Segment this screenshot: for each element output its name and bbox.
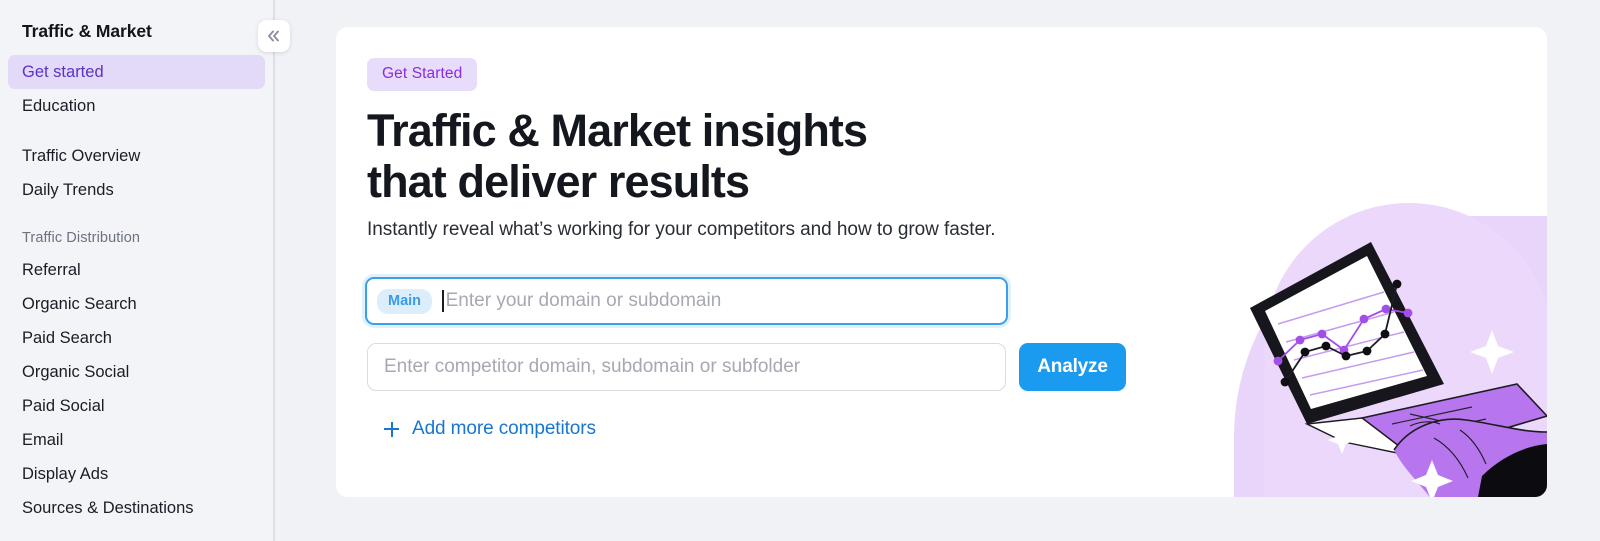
sidebar: Traffic & Market Get startedEducationTra… (0, 0, 273, 541)
sidebar-item-organic-search[interactable]: Organic Search (0, 287, 273, 321)
sidebar-item-label: Traffic Overview (22, 147, 140, 166)
page-subtitle: Instantly reveal what’s working for your… (367, 219, 995, 241)
analyze-button[interactable]: Analyze (1019, 343, 1126, 391)
main-tag-badge: Main (377, 289, 432, 314)
add-more-competitors-label: Add more competitors (412, 418, 596, 440)
sidebar-item-traffic-overview[interactable]: Traffic Overview (0, 139, 273, 173)
sidebar-nav-list: Get startedEducationTraffic OverviewDail… (0, 55, 273, 525)
sidebar-gap (0, 123, 273, 139)
sidebar-item-label: Referral (22, 261, 81, 280)
sidebar-item-label: Organic Social (22, 363, 129, 382)
page-title: Traffic & Market insights that deliver r… (367, 105, 867, 207)
get-started-badge: Get Started (367, 58, 477, 91)
get-started-card: Get Started Traffic & Market insights th… (336, 27, 1547, 497)
sidebar-item-label: Sources & Destinations (22, 499, 194, 518)
sidebar-item-label: Paid Search (22, 329, 112, 348)
sidebar-item-paid-social[interactable]: Paid Social (0, 389, 273, 423)
text-caret (442, 290, 444, 312)
sidebar-item-label: Email (22, 431, 63, 450)
sidebar-item-get-started[interactable]: Get started (8, 55, 265, 89)
sidebar-item-label: Organic Search (22, 295, 137, 314)
chevron-double-left-icon (265, 29, 283, 43)
sidebar-item-display-ads[interactable]: Display Ads (0, 457, 273, 491)
traffic-and-market-page: Traffic & Market Get startedEducationTra… (0, 0, 1600, 541)
sidebar-item-label: Paid Social (22, 397, 105, 416)
sidebar-title: Traffic & Market (22, 21, 152, 42)
sidebar-section-label: Traffic Distribution (0, 223, 273, 253)
sidebar-item-email[interactable]: Email (0, 423, 273, 457)
sidebar-item-education[interactable]: Education (0, 89, 273, 123)
add-more-competitors-link[interactable]: Add more competitors (384, 418, 596, 440)
sidebar-item-label: Get started (22, 63, 104, 82)
sidebar-item-label: Display Ads (22, 465, 108, 484)
sidebar-item-label: Education (22, 97, 95, 116)
sidebar-gap (0, 207, 273, 223)
sidebar-item-daily-trends[interactable]: Daily Trends (0, 173, 273, 207)
sidebar-item-sources-destinations[interactable]: Sources & Destinations (0, 491, 273, 525)
hand-holding-laptop-illustration (1234, 188, 1547, 497)
sidebar-collapse-button[interactable] (258, 20, 290, 52)
main-domain-input-wrapper[interactable]: Main (365, 277, 1008, 325)
sidebar-item-paid-search[interactable]: Paid Search (0, 321, 273, 355)
main-domain-input[interactable] (445, 290, 1006, 312)
sidebar-item-organic-social[interactable]: Organic Social (0, 355, 273, 389)
sidebar-item-label: Daily Trends (22, 181, 114, 200)
plus-icon (384, 422, 399, 437)
sidebar-divider (273, 0, 275, 541)
sidebar-item-referral[interactable]: Referral (0, 253, 273, 287)
competitor-domain-input[interactable] (367, 343, 1006, 391)
